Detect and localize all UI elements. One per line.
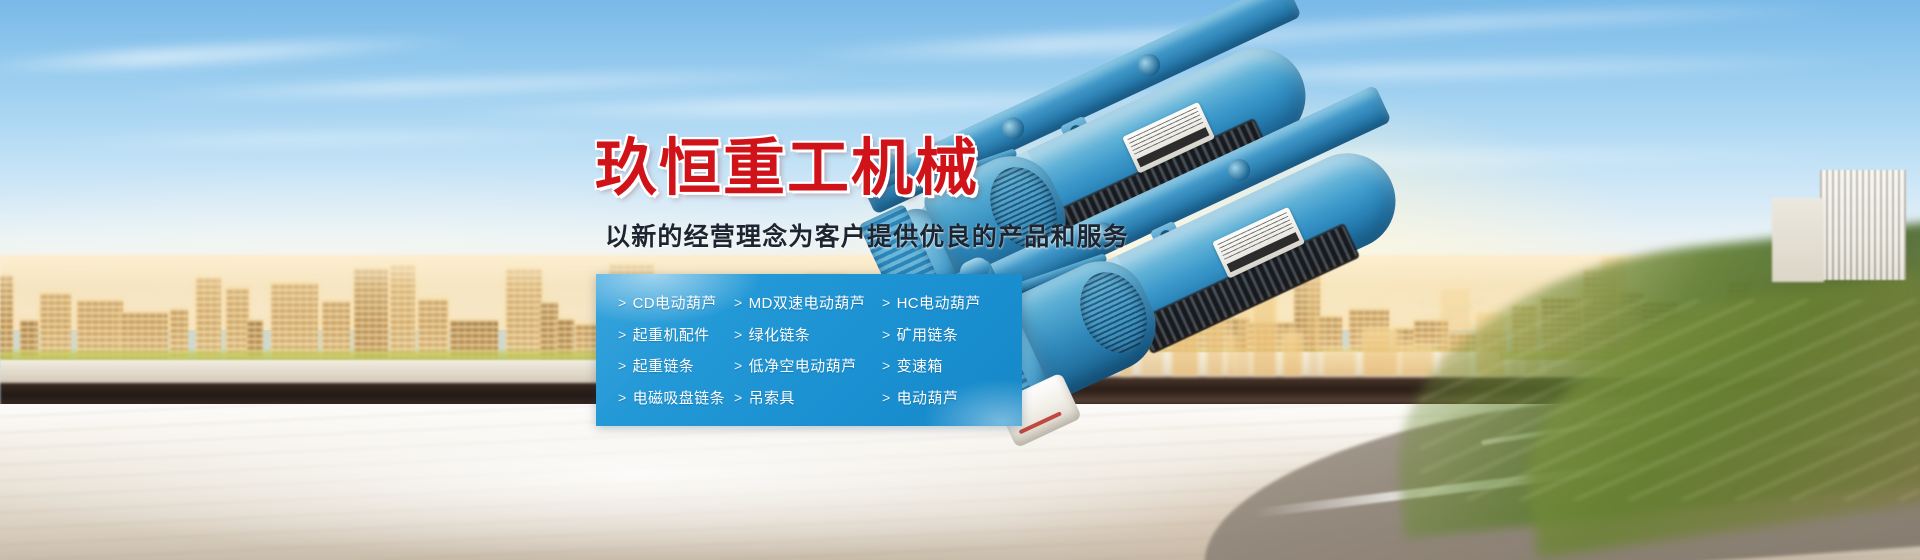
product-links-grid: >CD电动葫芦>MD双速电动葫芦>HC电动葫芦>起重机配件>绿化链条>矿用链条>… — [596, 274, 1022, 426]
product-link-label: HC电动葫芦 — [897, 296, 981, 311]
product-link[interactable]: >电磁吸盘链条 — [618, 391, 734, 406]
product-link-label: 变速箱 — [897, 359, 943, 374]
product-link[interactable]: >绿化链条 — [734, 328, 882, 343]
hero-banner: 玖恒重工机械 以新的经营理念为客户提供优良的产品和服务 >CD电动葫芦>MD双速… — [0, 0, 1920, 560]
product-link[interactable]: >CD电动葫芦 — [618, 296, 734, 311]
product-link-label: 绿化链条 — [749, 328, 811, 343]
product-link-label: 吊索具 — [749, 391, 795, 406]
product-link[interactable]: >变速箱 — [882, 359, 1022, 374]
product-link[interactable]: >电动葫芦 — [882, 391, 1022, 406]
product-link-label: 电磁吸盘链条 — [633, 391, 725, 406]
product-link-label: 矿用链条 — [897, 328, 959, 343]
chevron-right-icon: > — [618, 327, 627, 342]
company-slogan: 以新的经营理念为客户提供优良的产品和服务 — [605, 222, 1129, 252]
product-link-label: CD电动葫芦 — [633, 296, 717, 311]
product-links-panel: >CD电动葫芦>MD双速电动葫芦>HC电动葫芦>起重机配件>绿化链条>矿用链条>… — [596, 274, 1022, 426]
product-link-label: 起重链条 — [633, 359, 695, 374]
product-link[interactable]: >HC电动葫芦 — [882, 296, 1022, 311]
banner-content: 玖恒重工机械 以新的经营理念为客户提供优良的产品和服务 >CD电动葫芦>MD双速… — [0, 0, 1920, 560]
chevron-right-icon: > — [734, 359, 743, 374]
chevron-right-icon: > — [882, 390, 891, 405]
product-link[interactable]: >吊索具 — [734, 391, 882, 406]
chevron-right-icon: > — [882, 327, 891, 342]
chevron-right-icon: > — [618, 296, 627, 311]
chevron-right-icon: > — [618, 359, 627, 374]
product-link-label: 低净空电动葫芦 — [749, 359, 857, 374]
chevron-right-icon: > — [734, 327, 743, 342]
product-link[interactable]: >起重链条 — [618, 359, 734, 374]
product-link[interactable]: >MD双速电动葫芦 — [734, 296, 882, 311]
product-link[interactable]: >起重机配件 — [618, 328, 734, 343]
chevron-right-icon: > — [882, 296, 891, 311]
product-link[interactable]: >矿用链条 — [882, 328, 1022, 343]
chevron-right-icon: > — [618, 390, 627, 405]
company-title: 玖恒重工机械 — [595, 138, 979, 200]
chevron-right-icon: > — [882, 359, 891, 374]
chevron-right-icon: > — [734, 390, 743, 405]
product-link-label: 电动葫芦 — [897, 391, 959, 406]
product-link-label: MD双速电动葫芦 — [749, 296, 866, 311]
product-link-label: 起重机配件 — [633, 328, 710, 343]
product-link[interactable]: >低净空电动葫芦 — [734, 359, 882, 374]
chevron-right-icon: > — [734, 296, 743, 311]
